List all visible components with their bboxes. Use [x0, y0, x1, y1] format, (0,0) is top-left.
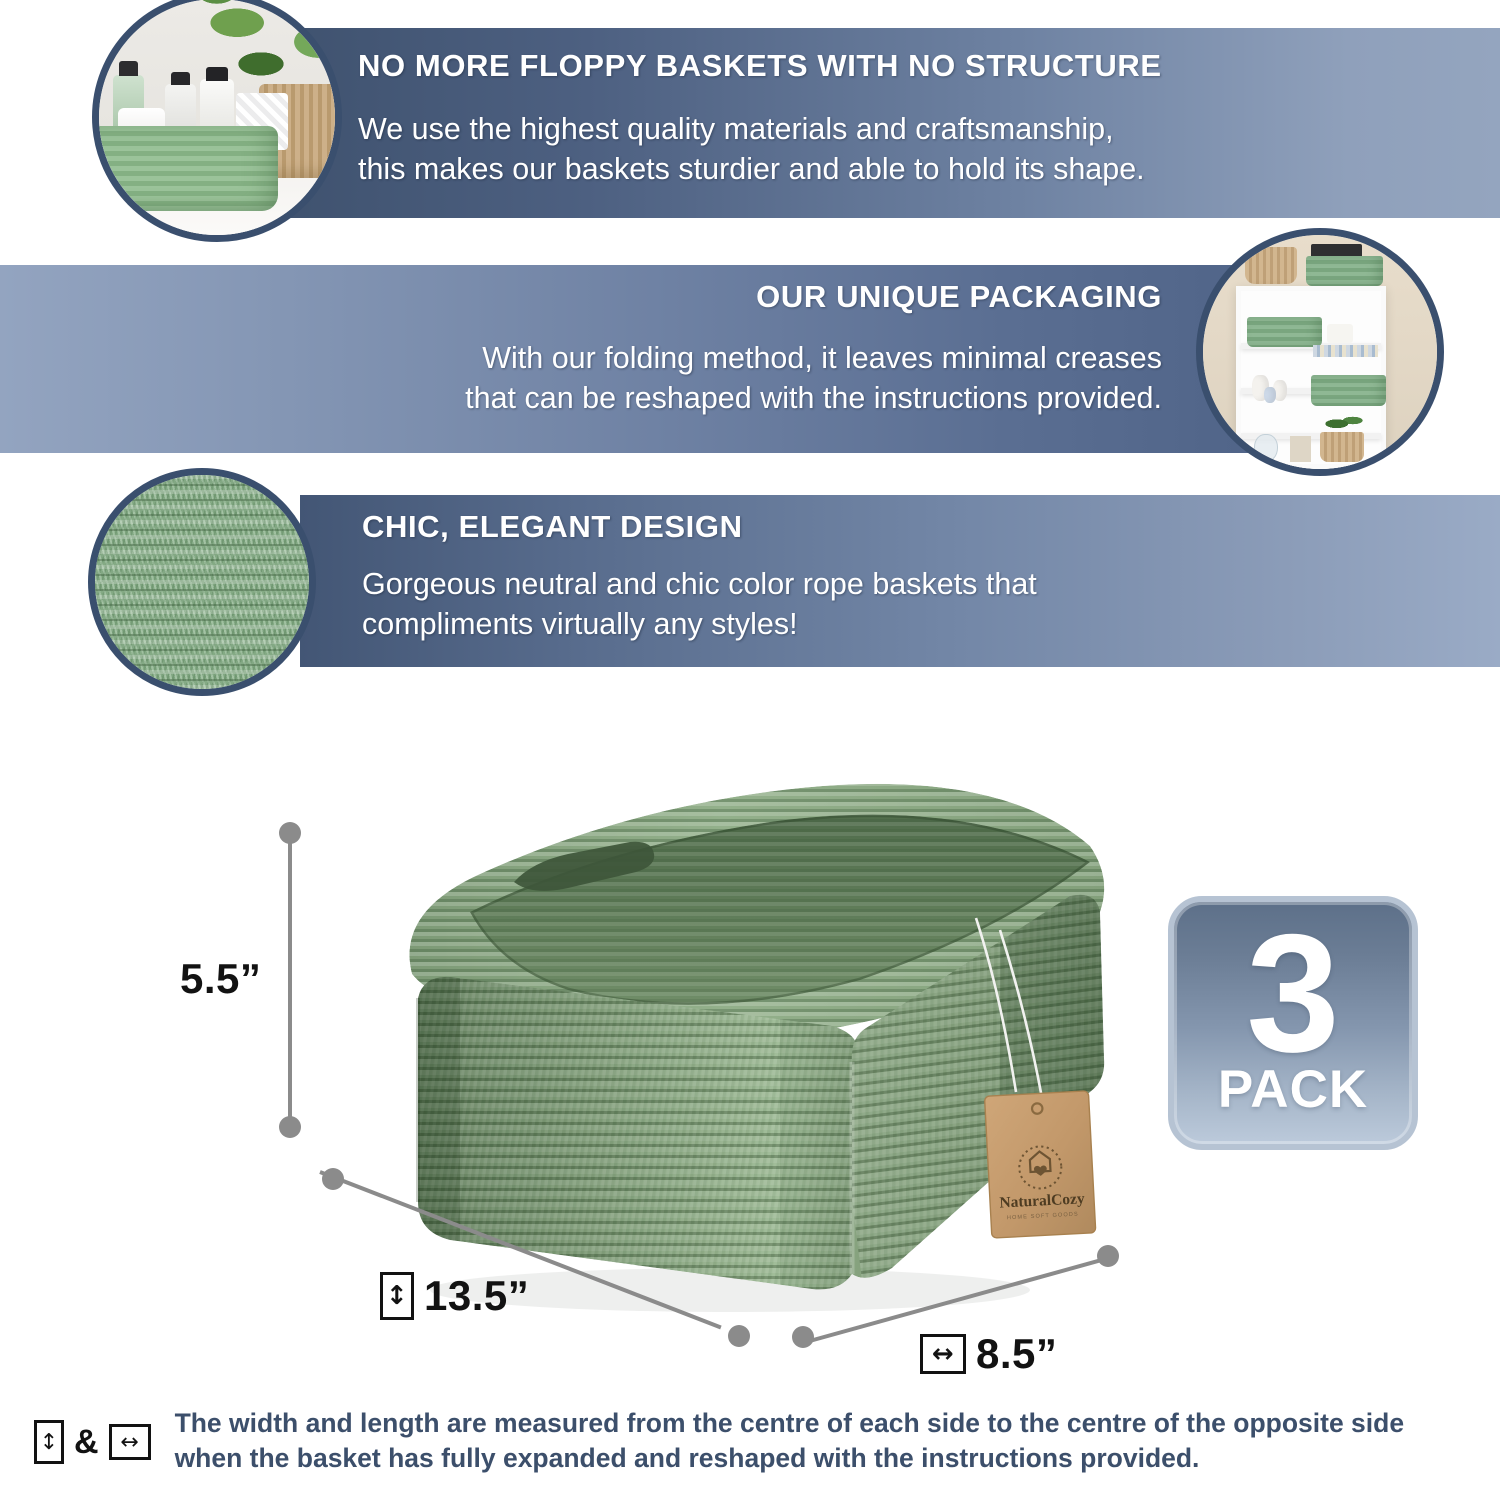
width-dimension-value: 8.5” — [976, 1330, 1057, 1378]
infographic-page: NO MORE FLOPPY BASKETS WITH NO STRUCTURE… — [0, 0, 1500, 1486]
green-rope-basket — [1247, 317, 1322, 347]
vertical-arrow-icon: ↕ — [380, 1272, 414, 1320]
ampersand-separator: & — [74, 1423, 99, 1462]
width-dimension-dot-end — [1097, 1245, 1119, 1267]
vertical-arrow-icon: ↕ — [34, 1420, 64, 1464]
pack-count-word: PACK — [1218, 1063, 1368, 1116]
banner-body-unique-packaging: With our folding method, it leaves minim… — [465, 339, 1162, 418]
banner-heading-unique-packaging: OUR UNIQUE PACKAGING — [756, 281, 1162, 314]
height-dimension-dot-top — [279, 822, 301, 844]
horizontal-arrow-icon: ↔ — [920, 1334, 966, 1374]
green-rope-basket — [1311, 375, 1386, 405]
green-rope-basket — [1306, 256, 1383, 286]
pack-count-number: 3 — [1246, 926, 1339, 1060]
measurement-disclaimer: ↕ & ↔ The width and length are measured … — [34, 1406, 1474, 1476]
banner-body-line: this makes our baskets sturdier and able… — [358, 150, 1145, 190]
banner-body-line: compliments virtually any styles! — [362, 605, 1037, 645]
banner-heading-chic-design: CHIC, ELEGANT DESIGN — [362, 511, 743, 544]
length-dimension-dot-start — [322, 1168, 344, 1190]
width-dimension-dot-start — [792, 1326, 814, 1348]
banner-body-line: Gorgeous neutral and chic color rope bas… — [362, 565, 1037, 605]
banner-body-line: With our folding method, it leaves minim… — [465, 339, 1162, 379]
banner-heading-no-structure: NO MORE FLOPPY BASKETS WITH NO STRUCTURE — [358, 50, 1162, 83]
banner-body-line: that can be reshaped with the instructio… — [465, 379, 1162, 419]
feature-banner-no-structure: NO MORE FLOPPY BASKETS WITH NO STRUCTURE… — [232, 28, 1500, 218]
pack-count-badge: 3 PACK — [1168, 896, 1418, 1150]
length-dimension-dot-end — [728, 1325, 750, 1347]
length-dimension-label: ↕ 13.5” — [380, 1272, 529, 1320]
banner-body-no-structure: We use the highest quality materials and… — [358, 110, 1145, 189]
width-dimension-label: ↔ 8.5” — [920, 1330, 1057, 1378]
feature-banner-chic-design: CHIC, ELEGANT DESIGN Gorgeous neutral an… — [300, 495, 1500, 667]
horizontal-arrow-icon: ↔ — [109, 1424, 151, 1460]
feature-banner-unique-packaging: OUR UNIQUE PACKAGING With our folding me… — [0, 265, 1290, 453]
height-dimension-label: 5.5” — [180, 955, 261, 1003]
photo-bathroom-scene — [92, 0, 342, 242]
disclaimer-line: The width and length are measured from t… — [175, 1406, 1405, 1441]
green-rope-basket — [99, 126, 278, 211]
photo-rope-texture — [88, 468, 316, 696]
product-basket-image: NaturalCozy HOME SOFT GOODS — [300, 762, 1110, 1322]
height-dimension-dot-bottom — [279, 1116, 301, 1138]
height-dimension-line — [288, 836, 292, 1126]
length-dimension-value: 13.5” — [424, 1272, 529, 1320]
banner-body-line: We use the highest quality materials and… — [358, 110, 1145, 150]
banner-body-chic-design: Gorgeous neutral and chic color rope bas… — [362, 565, 1037, 644]
disclaimer-line: when the basket has fully expanded and r… — [175, 1441, 1405, 1476]
photo-shelf-scene — [1196, 228, 1444, 476]
